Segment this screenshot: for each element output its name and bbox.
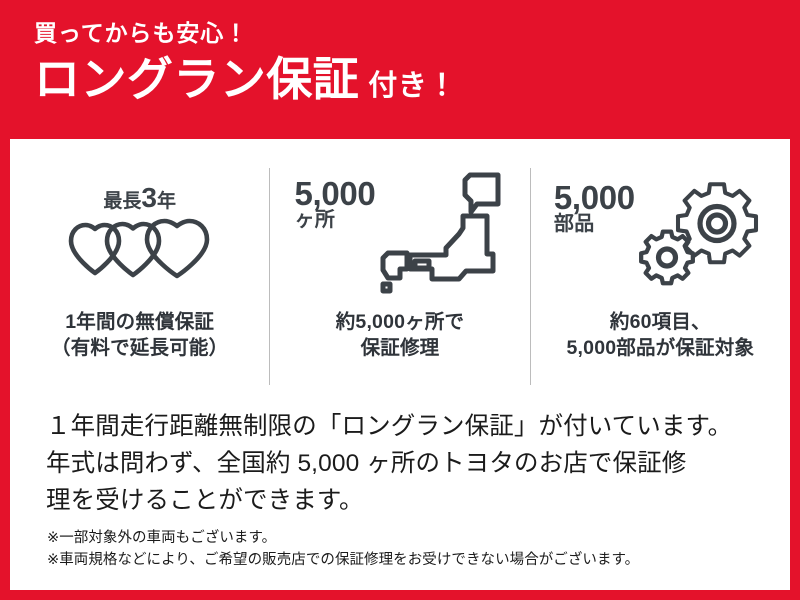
longrun-warranty-poster: 買ってからも安心！ ロングラン保証 付き！ 最長 3 年 — [0, 0, 800, 600]
covered-parts-stat: 5,000 部品 — [554, 172, 635, 237]
feature-caption-warranty-period: 1年間の無償保証 （有料で延長可能） — [51, 310, 228, 361]
header-title: ロングラン保証 付き！ — [34, 55, 800, 104]
warranty-period-label: 最長 3 年 — [103, 184, 176, 212]
japan-map-icon — [377, 168, 505, 301]
header-subtitle: 買ってからも安心！ — [34, 22, 800, 45]
header-title-main: ロングラン保証 — [34, 55, 359, 103]
feature-graphic-gears: 5,000 部品 — [531, 160, 790, 308]
bottom-red-border — [0, 590, 800, 600]
body-paragraph: １年間走行距離無制限の「ロングラン保証」が付いています。 年式は問わず、全国約 … — [46, 408, 760, 520]
three-hearts-icon — [65, 218, 215, 285]
feature-graphic-japan-map: 5,000 ヶ所 — [270, 160, 529, 308]
feature-caption-service-locations: 約5,000ヶ所で 保証修理 — [336, 310, 465, 361]
feature-covered-parts: 5,000 部品 — [531, 160, 790, 392]
gears-icon — [637, 172, 767, 297]
header-title-suffix: 付き！ — [368, 62, 457, 104]
disclaimer-notes: ※一部対象外の車両もございます。 ※車両規格などにより、ご希望の販売店での保証修… — [47, 528, 777, 572]
warranty-period-prefix: 最長 — [103, 192, 141, 211]
feature-service-locations: 5,000 ヶ所 — [270, 160, 529, 392]
feature-graphic-hearts: 最長 3 年 — [10, 160, 269, 308]
warranty-period-suffix: 年 — [157, 192, 176, 211]
feature-caption-covered-parts: 約60項目、 5,000部品が保証対象 — [567, 310, 755, 361]
disclaimer-note-1: ※一部対象外の車両もございます。 — [47, 528, 777, 550]
service-locations-number: 5,000 — [295, 178, 376, 210]
covered-parts-number: 5,000 — [554, 182, 635, 214]
feature-columns: 最長 3 年 1年間の無償保証 （有料で延長可能） — [10, 160, 790, 392]
header-banner: 買ってからも安心！ ロングラン保証 付き！ — [0, 0, 800, 139]
warranty-period-number: 3 — [141, 184, 157, 212]
feature-warranty-period: 最長 3 年 1年間の無償保証 （有料で延長可能） — [10, 160, 269, 392]
covered-parts-unit: 部品 — [554, 213, 595, 236]
disclaimer-note-2: ※車両規格などにより、ご希望の販売店での保証修理をお受けできない場合がございます… — [47, 550, 777, 572]
service-locations-stat: 5,000 ヶ所 — [295, 168, 376, 233]
service-locations-unit: ヶ所 — [295, 209, 336, 232]
